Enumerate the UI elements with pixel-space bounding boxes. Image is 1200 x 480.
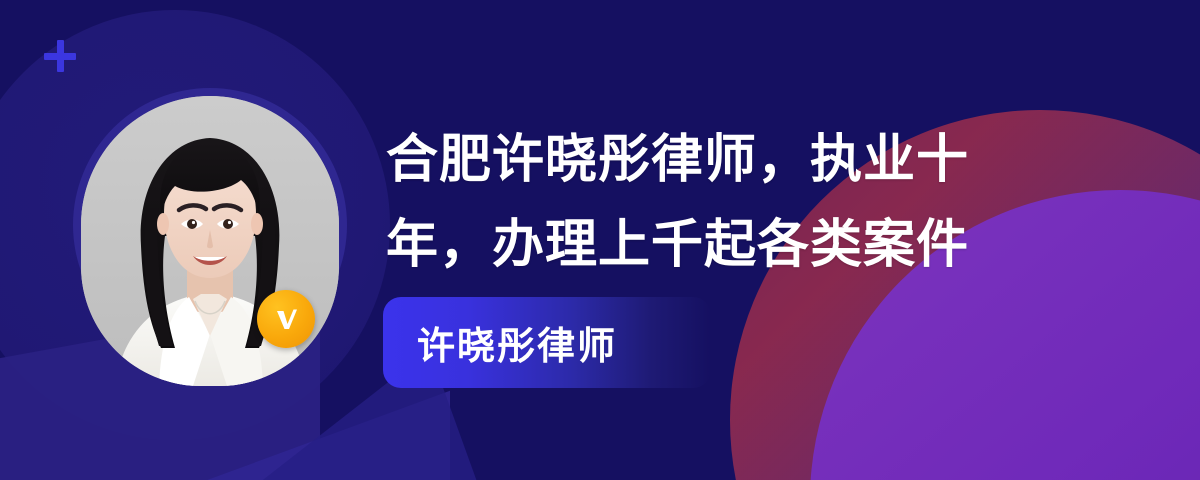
- verified-check-icon: [257, 290, 315, 348]
- avatar: [73, 88, 347, 384]
- plus-icon: [44, 40, 76, 72]
- page-title: 合肥许晓彤律师，执业十 年，办理上千起各类案件: [386, 118, 1086, 288]
- lawyer-name-button[interactable]: 许晓彤律师: [383, 297, 711, 388]
- banner-content: 合肥许晓彤律师，执业十 年，办理上千起各类案件: [386, 118, 1086, 288]
- lawyer-profile-banner: 合肥许晓彤律师，执业十 年，办理上千起各类案件 许晓彤律师: [0, 0, 1200, 480]
